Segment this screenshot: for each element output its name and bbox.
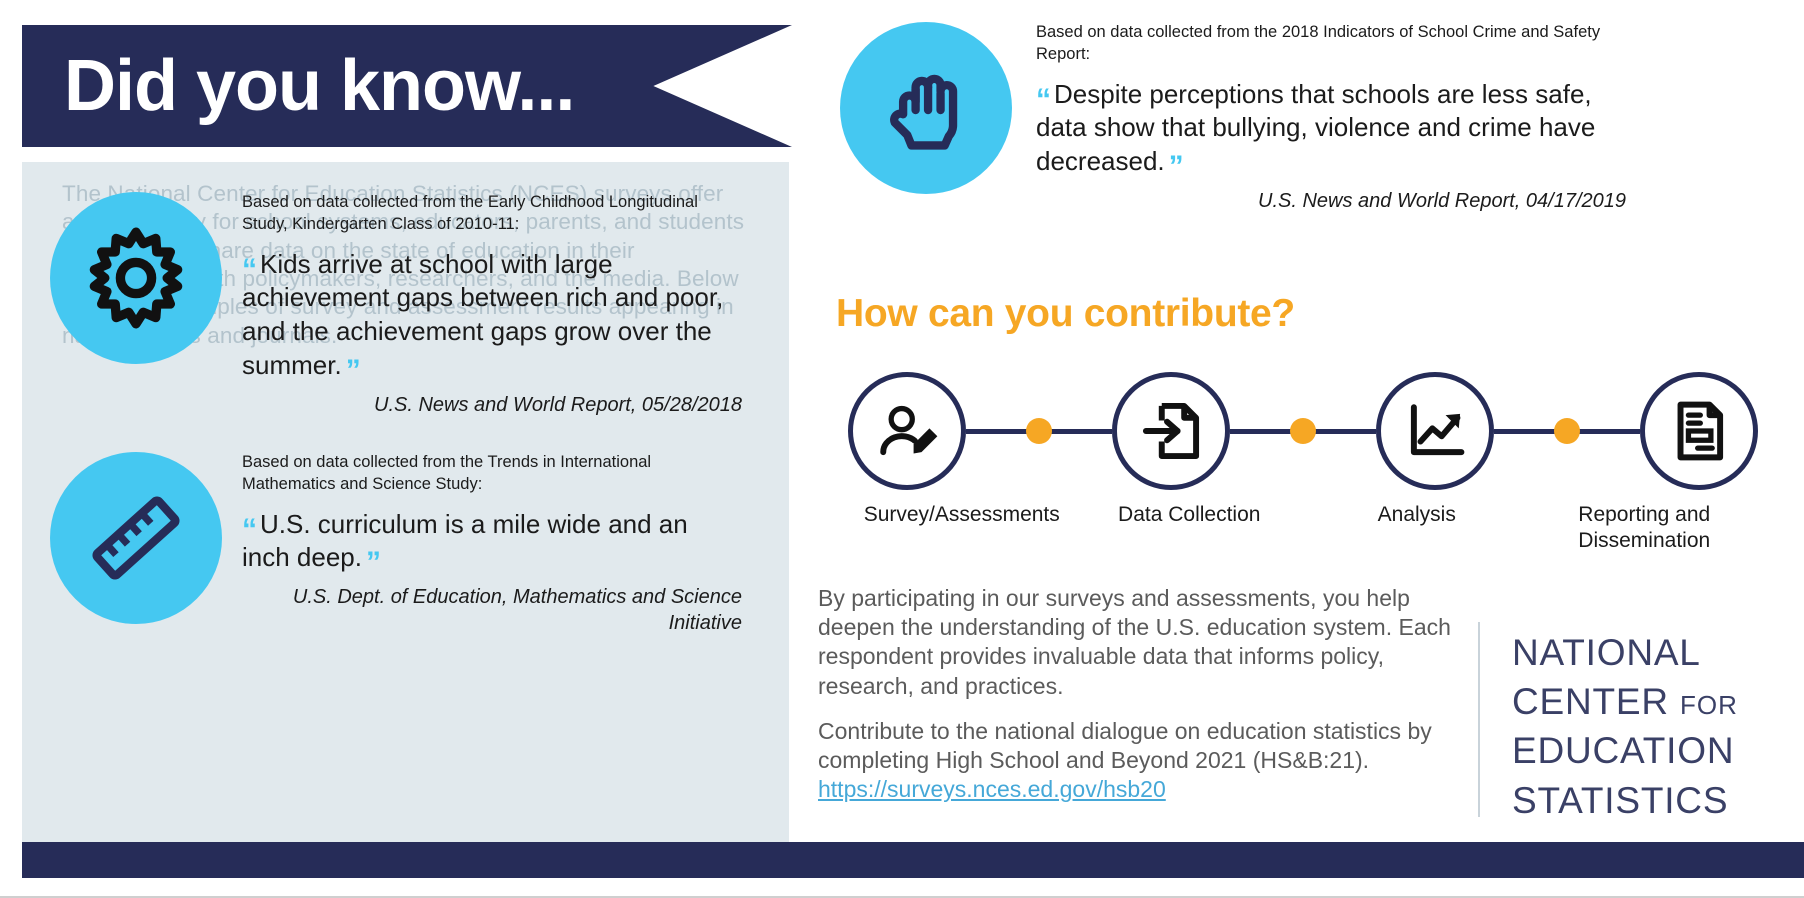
report-document-icon — [1666, 398, 1732, 464]
close-quote-icon: ” — [346, 354, 361, 387]
process-label-data-collection: Data Collection — [1076, 502, 1304, 553]
quote-text-wrapper: “Despite perceptions that schools are le… — [1036, 78, 1626, 179]
logo-divider — [1478, 622, 1480, 817]
process-labels-row: Survey/Assessments Data Collection Analy… — [848, 502, 1758, 553]
process-step-reporting-dissemination[interactable] — [1640, 372, 1758, 490]
page-title: Did you know... — [22, 50, 574, 122]
document-import-icon — [1138, 398, 1204, 464]
quote-text: Despite perceptions that schools are les… — [1036, 79, 1595, 177]
quote-card-timss: Based on data collected from the Trends … — [50, 452, 742, 636]
close-quote-icon: ” — [1169, 150, 1184, 183]
quote-body: Based on data collected from the 2018 In… — [1036, 22, 1626, 215]
close-quote-icon: ” — [366, 546, 381, 579]
process-step-data-collection[interactable] — [1112, 372, 1230, 490]
contribute-heading: How can you contribute? — [836, 292, 1295, 336]
contribute-paragraph: Contribute to the national dialogue on e… — [818, 718, 1432, 773]
quote-attribution: U.S. News and World Report, 05/28/2018 — [242, 393, 742, 419]
process-dot-2 — [1290, 418, 1316, 444]
participation-paragraph: By participating in our surveys and asse… — [818, 584, 1458, 701]
quote-text-wrapper: “Kids arrive at school with large achiev… — [242, 248, 742, 383]
logo-word-for: FOR — [1680, 690, 1738, 720]
process-flow: Survey/Assessments Data Collection Analy… — [848, 372, 1758, 562]
contribute-paragraph-wrapper: Contribute to the national dialogue on e… — [818, 717, 1458, 805]
process-connector-3 — [1494, 429, 1640, 434]
hand-icon-badge — [840, 22, 1012, 194]
hand-icon — [874, 56, 978, 160]
process-connector-1 — [966, 429, 1112, 434]
quote-source: Based on data collected from the Early C… — [242, 192, 742, 236]
ruler-icon-badge — [50, 452, 222, 624]
quote-attribution: U.S. News and World Report, 04/17/2019 — [1036, 189, 1626, 215]
chart-trend-icon — [1402, 398, 1468, 464]
infographic-page: Did you know... The National Center for … — [0, 0, 1804, 898]
logo-line-center-for: CENTER FOR — [1512, 677, 1738, 726]
open-quote-icon: “ — [242, 513, 257, 546]
process-dot-1 — [1026, 418, 1052, 444]
gear-icon-badge — [50, 192, 222, 364]
process-label-survey-assessments: Survey/Assessments — [848, 502, 1076, 553]
hsb-survey-link[interactable]: https://surveys.nces.ed.gov/hsb20 — [818, 776, 1166, 802]
quote-text: Kids arrive at school with large achieve… — [242, 249, 723, 380]
process-step-analysis[interactable] — [1376, 372, 1494, 490]
quote-text: U.S. curriculum is a mile wide and an in… — [242, 509, 688, 573]
process-label-analysis: Analysis — [1303, 502, 1531, 553]
quote-source: Based on data collected from the Trends … — [242, 452, 742, 496]
bottom-navy-bar — [22, 842, 1804, 878]
open-quote-icon: “ — [242, 253, 257, 286]
quote-text-wrapper: “U.S. curriculum is a mile wide and an i… — [242, 508, 742, 576]
logo-line-national: NATIONAL — [1512, 628, 1738, 677]
process-step-survey-assessments[interactable] — [848, 372, 966, 490]
process-dot-3 — [1554, 418, 1580, 444]
quote-source: Based on data collected from the 2018 In… — [1036, 22, 1626, 66]
open-quote-icon: “ — [1036, 83, 1051, 116]
logo-word-center: CENTER — [1512, 681, 1669, 722]
process-connector-2 — [1230, 429, 1376, 434]
logo-line-education: EDUCATION — [1512, 726, 1738, 775]
person-pencil-icon — [874, 398, 940, 464]
process-nodes-row — [848, 372, 1758, 490]
quote-body: Based on data collected from the Trends … — [242, 452, 742, 636]
did-you-know-banner: Did you know... — [22, 25, 792, 147]
nces-logo: NATIONAL CENTER FOR EDUCATION STATISTICS — [1512, 628, 1738, 825]
quote-body: Based on data collected from the Early C… — [242, 192, 742, 418]
logo-line-statistics: STATISTICS — [1512, 776, 1738, 825]
gear-icon — [84, 226, 188, 330]
quote-card-crime-safety: Based on data collected from the 2018 In… — [840, 22, 1626, 215]
process-label-reporting-dissemination: Reporting and Dissemination — [1531, 502, 1759, 553]
quote-card-ecls: Based on data collected from the Early C… — [50, 192, 742, 418]
quote-attribution: U.S. Dept. of Education, Mathematics and… — [242, 585, 742, 636]
ruler-icon — [84, 486, 188, 590]
